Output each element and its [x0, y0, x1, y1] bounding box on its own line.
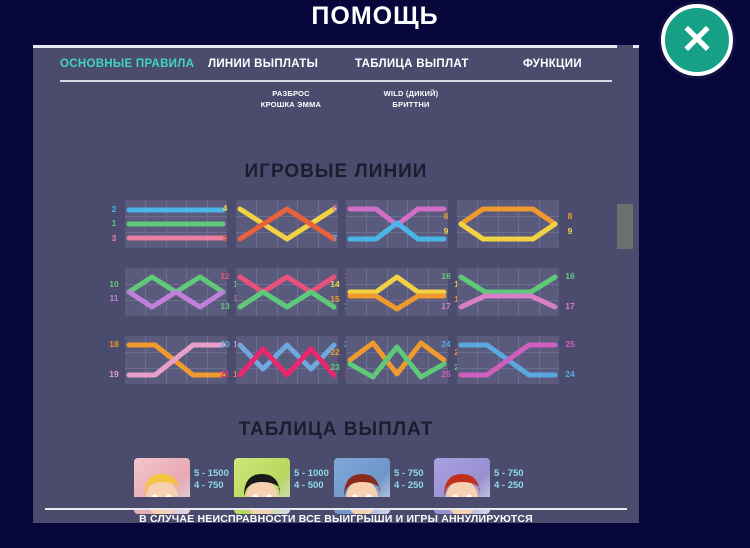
payout-row: 5 - 1500	[194, 468, 229, 480]
payline-path	[350, 223, 444, 239]
payline-number-left: 22	[327, 347, 343, 357]
payline-path	[461, 224, 555, 239]
payline-cell: 16171617	[457, 268, 559, 316]
payline-path	[350, 296, 444, 309]
payline-number-right: 9	[562, 226, 578, 236]
payline-number-left: 19	[106, 369, 122, 379]
footer-notice: В СЛУЧАЕ НЕИСПРАВНОСТИ ВСЕ ВЫИГРЫШИ И ИГ…	[33, 513, 639, 525]
payline-path	[461, 345, 555, 375]
close-icon: ✕	[665, 8, 729, 72]
payline-number-right: 16	[562, 271, 578, 281]
payline-path	[240, 349, 334, 375]
payline-cell: 4545	[236, 200, 338, 248]
payline-cell: 12131213	[236, 268, 338, 316]
paytable-payouts: 5 - 7504 - 250	[394, 468, 424, 492]
payout-row: 5 - 750	[394, 468, 424, 480]
payline-cell: 10111011	[125, 268, 227, 316]
payline-path-overlay	[457, 336, 559, 384]
payline-path-overlay	[236, 268, 338, 316]
payline-path	[240, 277, 334, 292]
payline-cell: 8989	[457, 200, 559, 248]
payline-number-left: 13	[217, 301, 233, 311]
payline-cell: 24252524	[457, 336, 559, 384]
payline-path	[461, 277, 555, 292]
payline-number-left: 25	[438, 369, 454, 379]
payline-cell: 14151415	[346, 268, 448, 316]
payline-path	[350, 277, 444, 292]
scrollbar-thumb[interactable]	[617, 204, 633, 249]
payline-path-overlay	[125, 200, 227, 248]
close-button[interactable]: ✕	[661, 4, 733, 76]
payout-row: 5 - 750	[494, 468, 524, 480]
payout-row: 5 - 1000	[294, 468, 329, 480]
payline-cell: 22232223	[346, 336, 448, 384]
payline-path-overlay	[457, 200, 559, 248]
payline-path-overlay	[236, 200, 338, 248]
payline-number-left: 10	[106, 279, 122, 289]
payline-cell: 6767	[346, 200, 448, 248]
payline-number-left: 18	[106, 339, 122, 349]
payline-number-right: 24	[562, 369, 578, 379]
payline-path-overlay	[346, 336, 448, 384]
payline-number-right: 25	[562, 339, 578, 349]
payline-number-left: 5	[217, 233, 233, 243]
payline-number-left: 11	[106, 293, 122, 303]
scrollbar-track[interactable]	[617, 45, 633, 523]
paytable-payouts: 5 - 15004 - 750	[194, 468, 229, 492]
payline-number-left: 3	[106, 233, 122, 243]
payline-path	[461, 209, 555, 224]
payline-number-left: 14	[327, 279, 343, 289]
payline-number-left: 4	[217, 203, 233, 213]
page-title: ПОМОЩЬ	[0, 2, 750, 31]
payline-path	[461, 296, 555, 307]
footer-divider	[45, 508, 627, 510]
payline-path	[240, 292, 334, 307]
payline-number-left: 17	[438, 301, 454, 311]
payline-number-right: 8	[562, 211, 578, 221]
payline-number-left: 8	[438, 211, 454, 221]
payout-row: 4 - 750	[194, 480, 229, 492]
payline-number-left: 7	[327, 233, 343, 243]
payline-number-left: 12	[217, 271, 233, 281]
payline-number-left: 16	[438, 271, 454, 281]
payline-path-overlay	[457, 268, 559, 316]
payline-path-overlay	[346, 268, 448, 316]
payline-number-right: 17	[562, 301, 578, 311]
payline-number-left: 9	[438, 226, 454, 236]
payline-number-left: 20	[217, 339, 233, 349]
payline-number-left: 24	[438, 339, 454, 349]
payline-number-left: 23	[327, 362, 343, 372]
payline-number-left: 15	[327, 294, 343, 304]
payline-number-left: 6	[327, 203, 343, 213]
payline-cell: 213213	[125, 200, 227, 248]
payline-path-overlay	[346, 200, 448, 248]
payline-path	[129, 345, 223, 375]
payline-path	[240, 209, 334, 239]
payline-path	[129, 292, 223, 307]
payline-path-overlay	[125, 268, 227, 316]
paytable-fade-mask	[33, 497, 639, 508]
payline-path	[240, 209, 334, 239]
payout-row: 4 - 250	[394, 480, 424, 492]
payline-path-overlay	[236, 336, 338, 384]
payline-number-left: 2	[106, 204, 122, 214]
paytable-section-title: ТАБЛИЦА ВЫПЛАТ	[33, 419, 639, 441]
payline-cell: 20212021	[236, 336, 338, 384]
paytable-payouts: 5 - 7504 - 250	[494, 468, 524, 492]
payout-row: 4 - 500	[294, 480, 329, 492]
paytable-payouts: 5 - 10004 - 500	[294, 468, 329, 492]
payline-path-overlay	[125, 336, 227, 384]
payline-cell: 18191918	[125, 336, 227, 384]
payline-number-left: 1	[106, 218, 122, 228]
payout-row: 4 - 250	[494, 480, 524, 492]
payline-number-left: 21	[217, 369, 233, 379]
paylines-section-title: ИГРОВЫЕ ЛИНИИ	[33, 161, 639, 183]
